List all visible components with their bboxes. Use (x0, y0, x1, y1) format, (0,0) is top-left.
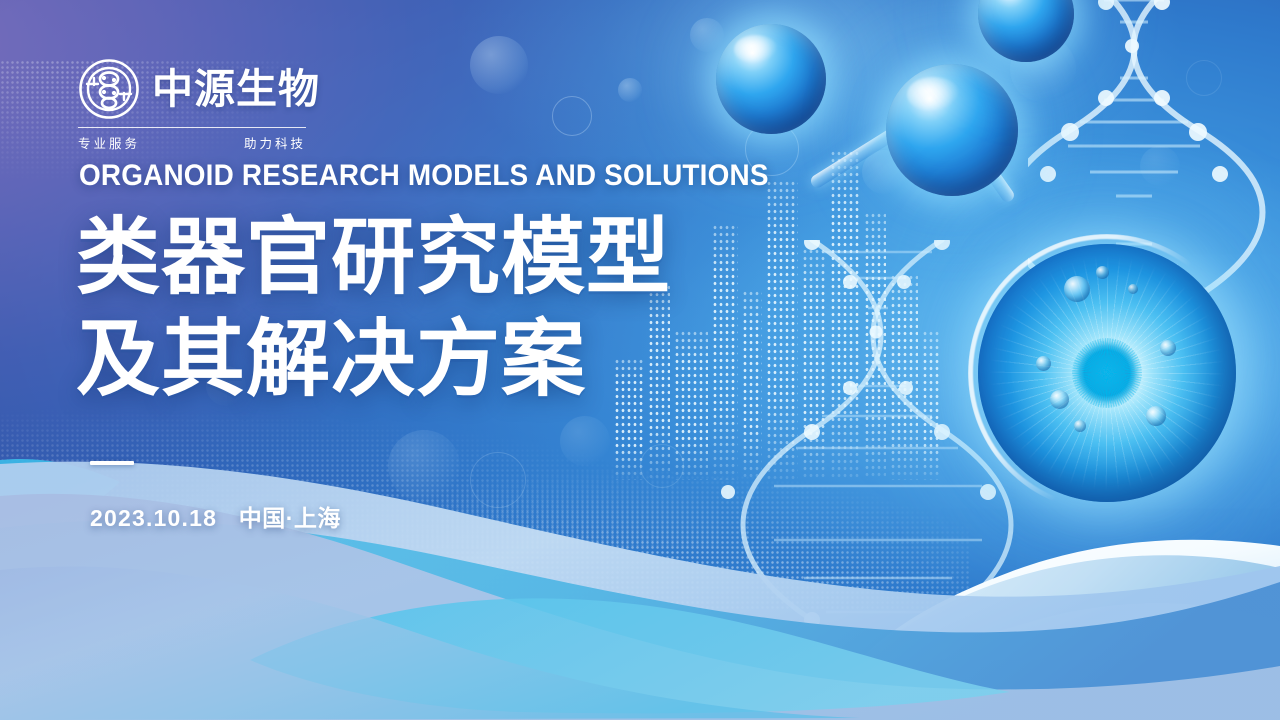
english-subtitle: ORGANOID RESEARCH MODELS AND SOLUTIONS (79, 161, 769, 191)
page-title-line-1: 类器官研究模型 (76, 206, 671, 308)
poster-canvas: 中源生物 专业服务 助力科技 ORGANOID RESEARCH MODELS … (0, 0, 1280, 720)
brand-tagline: 专业服务 助力科技 (78, 133, 306, 152)
event-location: 中国·上海 (239, 505, 341, 531)
event-meta: 2023.10.18 中国·上海 (90, 499, 341, 533)
brand-name: 中源生物 (152, 69, 320, 110)
poster-content: 中源生物 专业服务 助力科技 ORGANOID RESEARCH MODELS … (0, 0, 1280, 720)
company-logo-icon (78, 58, 140, 120)
event-date: 2023.10.18 (90, 505, 217, 531)
brand-tagline-right: 助力科技 (244, 133, 306, 152)
page-title: 类器官研究模型 及其解决方案 (76, 206, 671, 411)
brand-lockup: 中源生物 专业服务 助力科技 (78, 58, 328, 152)
brand-divider (78, 127, 306, 128)
brand-tagline-left: 专业服务 (78, 133, 140, 152)
page-title-line-2: 及其解决方案 (76, 308, 671, 410)
title-rule (90, 461, 134, 465)
